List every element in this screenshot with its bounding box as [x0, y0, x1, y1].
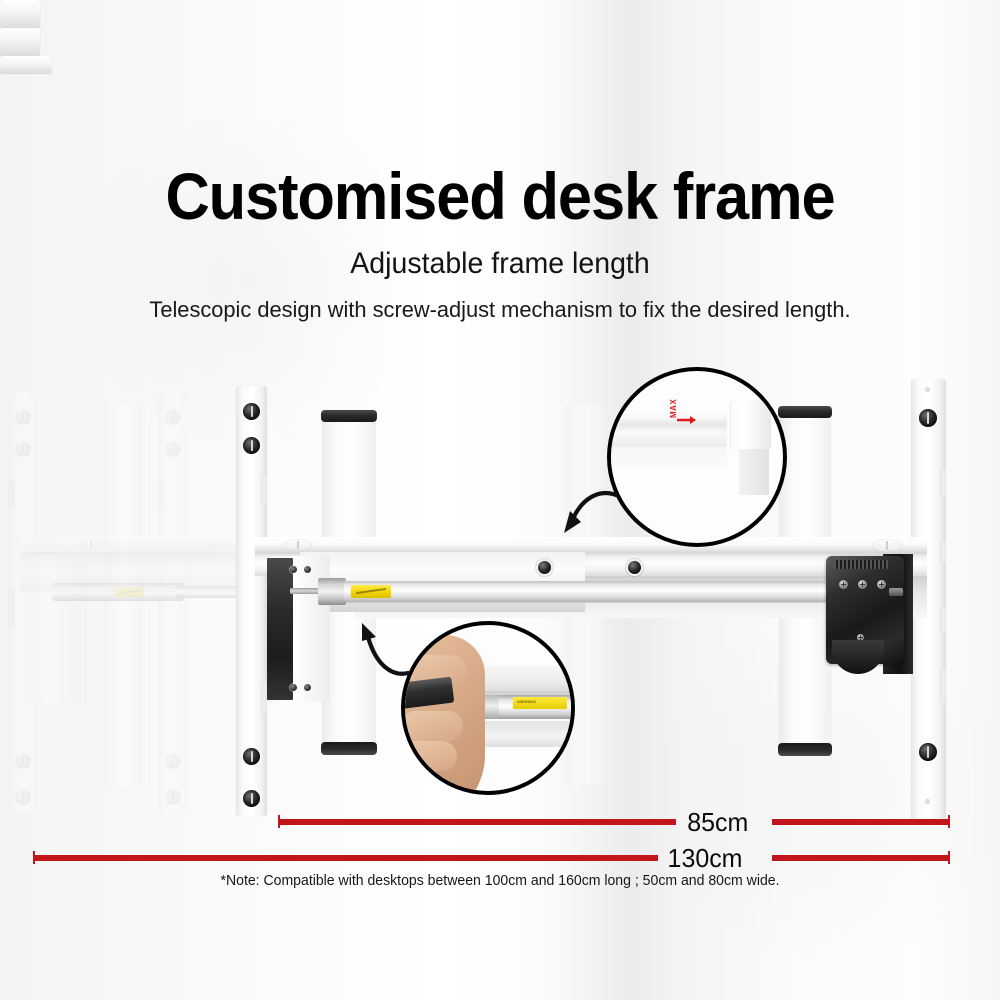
gearbox-ridge — [834, 560, 888, 569]
bracket-bolt — [304, 566, 311, 573]
leg-notch — [8, 589, 14, 629]
ghost-beam-cap — [80, 539, 102, 550]
leg-notch — [940, 539, 946, 565]
dimension-label: 130cm — [668, 843, 743, 873]
leg-notch — [8, 481, 14, 509]
leg-notch — [940, 467, 946, 497]
telescopic-rod — [344, 581, 830, 602]
crossbar-knuckle — [0, 28, 40, 56]
inset-rod-warning-label: WARNING — [513, 697, 567, 709]
leg-screw-icon — [243, 748, 260, 765]
leg-screw-icon — [165, 753, 181, 769]
dimension-label: 85cm — [687, 807, 748, 837]
leg-pin-hole — [925, 799, 930, 804]
gearbox-lower-housing — [832, 640, 884, 674]
bracket-bolt — [290, 684, 297, 691]
gearbox-output-pin — [889, 588, 903, 596]
product-infographic: Customised desk frame Adjustable frame l… — [0, 0, 1000, 1000]
ghost-beam-cap — [205, 539, 227, 550]
gearbox-screw-icon — [877, 580, 886, 589]
dimension-tick-right — [948, 851, 950, 864]
gearbox-screw-icon — [839, 580, 848, 589]
inset-beam-endcap-tab — [739, 449, 769, 495]
left-motor-bracket — [267, 558, 293, 700]
rod-coupling-nut — [318, 578, 346, 605]
leg-screw-icon — [15, 441, 31, 457]
leg-screw-icon — [165, 441, 181, 457]
inset-beam-body — [607, 425, 727, 447]
leg-notch — [940, 667, 946, 703]
inset-bottom-pointer-arrow-icon — [350, 615, 412, 681]
left-foot-pad-bottom — [321, 742, 377, 755]
dimension-line-left — [33, 855, 658, 861]
bracket-bolt — [304, 684, 311, 691]
inset-beam-lower-face — [607, 447, 727, 469]
leg-screw-icon — [15, 753, 31, 769]
leg-screw-icon — [165, 409, 181, 425]
ghost-bracket-plate — [24, 555, 86, 703]
leg-screw-icon — [15, 789, 31, 805]
page-title: Customised desk frame — [35, 163, 965, 229]
crossbar-cap-right — [872, 539, 902, 552]
dimension-85cm: 85cm — [0, 807, 1000, 837]
crossbar-cap-left — [284, 539, 312, 551]
gearbox-screw-icon — [858, 580, 867, 589]
left-foot-pad-top — [321, 410, 377, 422]
right-foot-pad-top — [778, 406, 832, 418]
leg-screw-icon — [165, 789, 181, 805]
leg-pin-hole — [925, 387, 930, 392]
crossbar-knuckle-bolt — [628, 561, 641, 574]
dimension-tick-right — [948, 815, 950, 828]
leg-screw-icon — [15, 409, 31, 425]
dimension-line-left — [278, 819, 676, 825]
inset-top-pointer-arrow-icon — [556, 487, 620, 543]
crossbar-knuckle-bolt — [538, 561, 551, 574]
rod-warning-label — [351, 585, 391, 598]
leg-screw-icon — [243, 403, 260, 420]
bracket-bolt — [290, 566, 297, 573]
page-subtitle: Adjustable frame length — [25, 249, 975, 279]
dimension-130cm: 130cm — [0, 843, 1000, 873]
dimension-line-right — [772, 855, 950, 861]
finger — [401, 711, 463, 741]
leg-screw-icon — [243, 437, 260, 454]
crossbar-knuckle — [0, 56, 52, 74]
leg-notch — [261, 474, 267, 504]
page-tagline: Telescopic design with screw-adjust mech… — [15, 299, 985, 322]
dimension-line-right — [772, 819, 950, 825]
inset-beam-endcap — [731, 401, 771, 449]
inset-max-marking: MAX — [607, 367, 787, 547]
leg-screw-icon — [243, 790, 260, 807]
leg-screw-icon — [919, 409, 937, 427]
compatibility-note: *Note: Compatible with desktops between … — [15, 874, 985, 889]
finger — [401, 741, 457, 771]
inset-beam-top-face — [607, 409, 727, 425]
right-foot-pad-bottom — [778, 743, 832, 756]
max-arrow-icon — [677, 415, 697, 425]
inset-warning-text: WARNING — [517, 699, 536, 704]
crossbar-knuckle — [0, 0, 40, 28]
inset-screw-adjust: WARNING — [401, 621, 575, 795]
leg-notch — [940, 607, 946, 633]
leg-notch — [158, 481, 164, 509]
left-leg-bar — [236, 386, 267, 816]
leg-screw-icon — [919, 743, 937, 761]
